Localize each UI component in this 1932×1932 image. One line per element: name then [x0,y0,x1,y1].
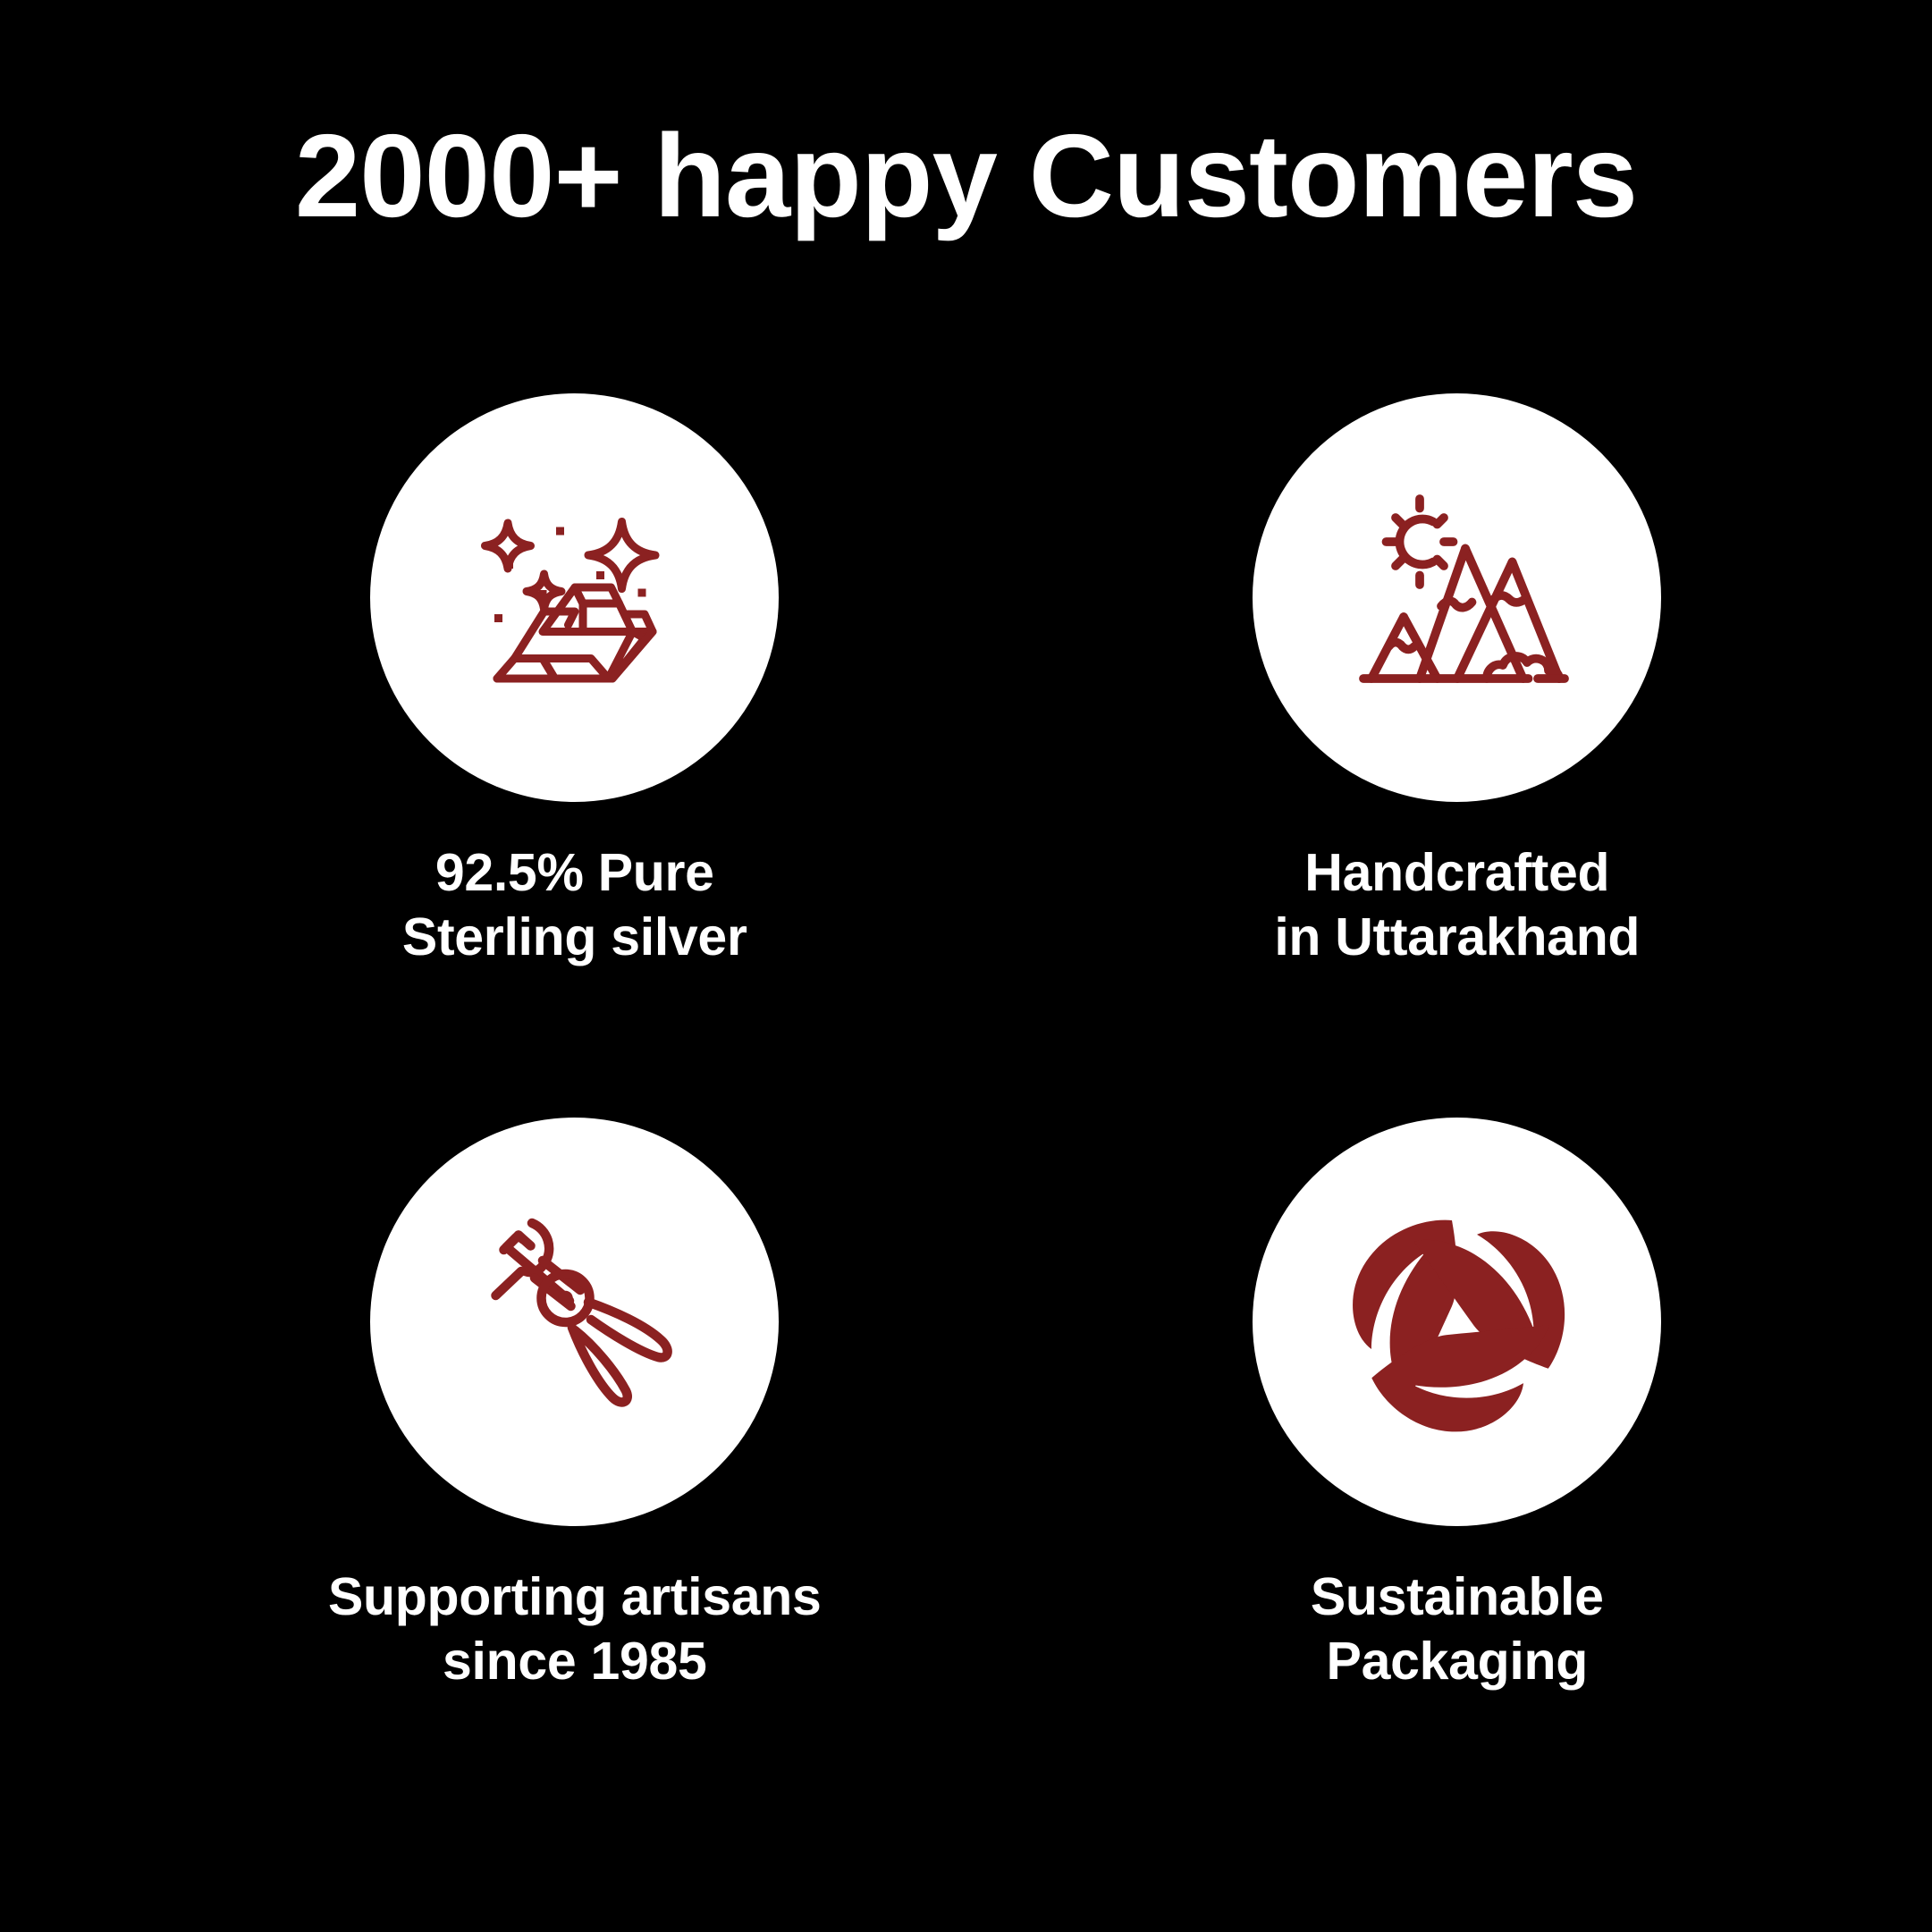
feature-item-silver[interactable]: 92.5% Pure Sterling silver [0,393,966,1118]
page-title: 2000+ happy Customers [0,114,1932,239]
feature-label: Handcrafted in Uttarakhand [1274,841,1640,970]
feature-icon-badge [370,1118,779,1526]
feature-label: 92.5% Pure Sterling silver [402,841,747,970]
feature-item-handcrafted[interactable]: Handcrafted in Uttarakhand [966,393,1932,1118]
feature-item-packaging[interactable]: Sustainable Packaging [966,1118,1932,1842]
feature-label: Sustainable Packaging [1311,1565,1604,1694]
feature-icon-badge [370,393,779,802]
promo-banner: 2000+ happy Customers [0,0,1932,1932]
feature-label: Supporting artisans since 1985 [328,1565,822,1694]
feature-item-artisans[interactable]: Supporting artisans since 1985 [0,1118,966,1842]
three-leaves-recycle-icon [1323,1188,1591,1456]
feature-icon-badge [1253,1118,1661,1526]
jewelry-pliers-icon [441,1188,709,1456]
mountains-sun-icon [1323,464,1591,732]
feature-icon-badge [1253,393,1661,802]
feature-grid: 92.5% Pure Sterling silver [0,393,1932,1842]
silver-bars-sparkle-icon [441,464,709,732]
